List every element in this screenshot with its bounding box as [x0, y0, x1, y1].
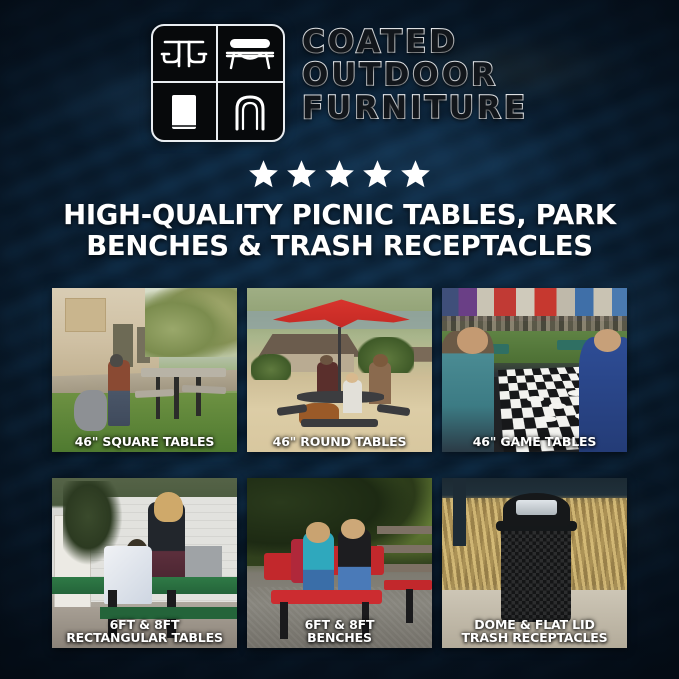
page-title: HIGH-QUALITY PICNIC TABLES, PARK BENCHES…	[0, 200, 679, 262]
product-tile-square-tables[interactable]: 46" SQUARE TABLES	[52, 288, 237, 452]
headline-line-1: HIGH-QUALITY PICNIC TABLES, PARK	[26, 200, 653, 231]
star-icon	[400, 159, 431, 189]
caption-line-2: RECTANGULAR TABLES	[55, 631, 234, 644]
caption-line-2: BENCHES	[250, 631, 429, 644]
logo-icon-grid	[151, 24, 285, 142]
tile-caption: 6FT & 8FT RECTANGULAR TABLES	[52, 618, 237, 645]
wordmark-line-1: COATED	[302, 27, 528, 59]
tile-caption: DOME & FLAT LID TRASH RECEPTACLES	[442, 618, 627, 645]
tile-caption: 46" SQUARE TABLES	[52, 435, 237, 448]
promotional-banner: COATED OUTDOOR FURNITURE HIGH-QUALITY PI…	[0, 0, 679, 679]
tile-caption: 46" GAME TABLES	[442, 435, 627, 448]
product-image-square-tables	[52, 288, 237, 452]
park-bench-icon	[218, 26, 283, 83]
star-rating	[0, 159, 679, 189]
caption-line-1: 46" SQUARE TABLES	[55, 435, 234, 448]
picnic-table-icon	[153, 26, 218, 83]
product-image-round-tables	[247, 288, 432, 452]
product-image-game-tables	[442, 288, 627, 452]
star-icon	[362, 159, 393, 189]
caption-line-1: 46" GAME TABLES	[445, 435, 624, 448]
product-tile-game-tables[interactable]: 46" GAME TABLES	[442, 288, 627, 452]
tile-caption: 6FT & 8FT BENCHES	[247, 618, 432, 645]
caption-line-1: 46" ROUND TABLES	[250, 435, 429, 448]
product-tile-round-tables[interactable]: 46" ROUND TABLES	[247, 288, 432, 452]
brand-wordmark: COATED OUTDOOR FURNITURE	[302, 24, 528, 125]
wordmark-line-2: OUTDOOR	[302, 60, 528, 92]
bike-rack-icon	[218, 83, 283, 140]
product-tile-rectangular-tables[interactable]: 6FT & 8FT RECTANGULAR TABLES	[52, 478, 237, 648]
headline-line-2: BENCHES & TRASH RECEPTACLES	[26, 231, 653, 262]
tile-caption: 46" ROUND TABLES	[247, 435, 432, 448]
star-icon	[248, 159, 279, 189]
wordmark-line-3: FURNITURE	[302, 93, 528, 125]
product-category-grid: 46" SQUARE TABLES	[52, 288, 627, 648]
star-icon	[286, 159, 317, 189]
caption-line-1: 6FT & 8FT	[55, 618, 234, 631]
trash-receptacle-icon	[153, 83, 218, 140]
brand-logo: COATED OUTDOOR FURNITURE	[0, 24, 679, 142]
product-tile-trash-receptacles[interactable]: DOME & FLAT LID TRASH RECEPTACLES	[442, 478, 627, 648]
caption-line-1: DOME & FLAT LID	[445, 618, 624, 631]
caption-line-1: 6FT & 8FT	[250, 618, 429, 631]
star-icon	[324, 159, 355, 189]
caption-line-2: TRASH RECEPTACLES	[445, 631, 624, 644]
product-tile-benches[interactable]: 6FT & 8FT BENCHES	[247, 478, 432, 648]
